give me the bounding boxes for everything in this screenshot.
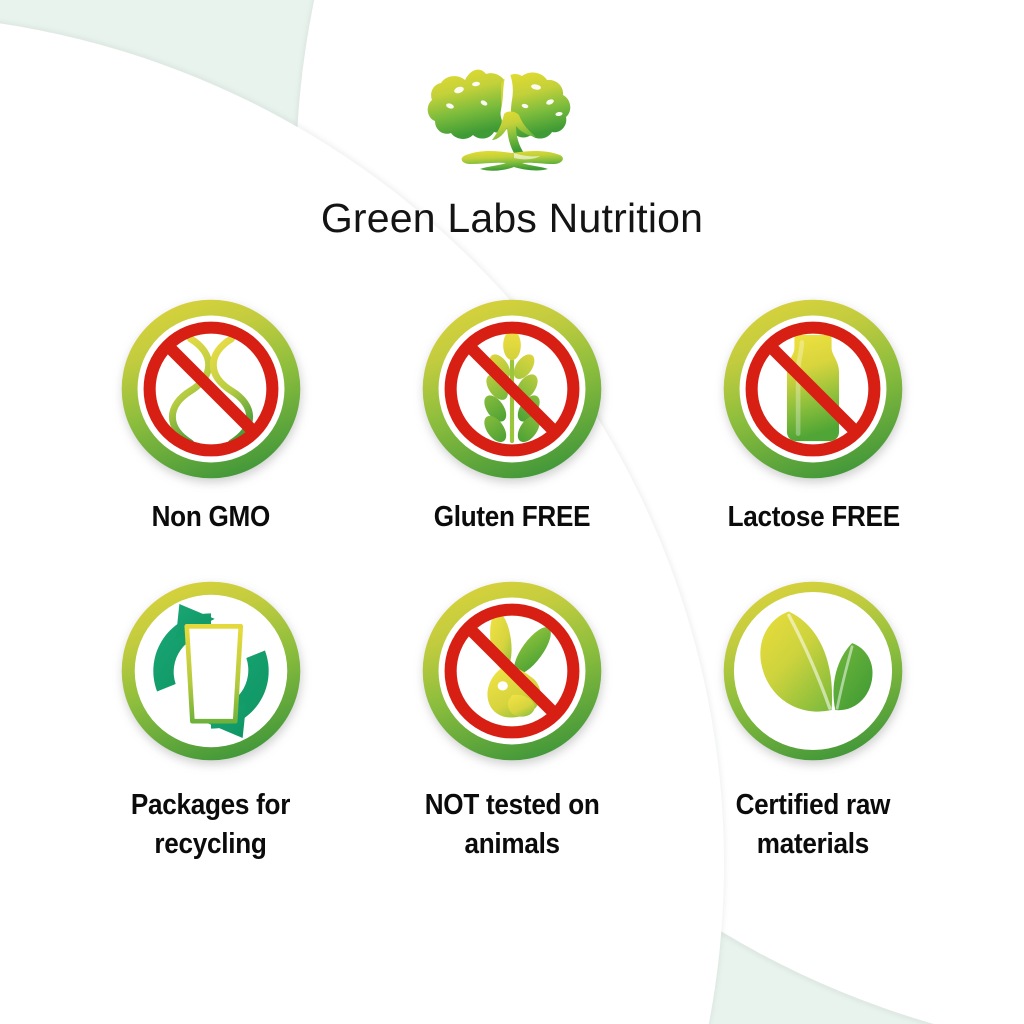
brand-header: Green Labs Nutrition (0, 54, 1024, 241)
badge-disc-gluten-free (419, 296, 605, 482)
dna-helix-icon (118, 296, 304, 482)
badge-disc-non-gmo (118, 296, 304, 482)
badge-grid: Non GMO (60, 296, 964, 863)
badge-label-certified-raw-materials: Certified raw materials (736, 786, 891, 863)
two-leaves-icon (720, 578, 906, 764)
recycle-arrows-icon (118, 578, 304, 764)
badge-item-not-tested-on-animals[interactable]: NOT tested on animals (361, 578, 662, 863)
badge-label-packages-for-recycling: Packages for recycling (131, 786, 290, 863)
tree-icon (426, 54, 598, 184)
badge-item-certified-raw-materials[interactable]: Certified raw materials (663, 578, 964, 863)
milk-bottle-icon (720, 296, 906, 482)
badge-disc-lactose-free (720, 296, 906, 482)
infographic-canvas: Green Labs Nutrition (0, 0, 1024, 1024)
badge-label-lactose-free: Lactose FREE (727, 498, 899, 536)
badge-label-not-tested-on-animals: NOT tested on animals (425, 786, 600, 863)
wheat-stalk-icon (419, 296, 605, 482)
badge-item-lactose-free[interactable]: Lactose FREE (663, 296, 964, 536)
rabbit-icon (419, 578, 605, 764)
badge-disc-certified-raw-materials (720, 578, 906, 764)
badge-disc-packages-for-recycling (118, 578, 304, 764)
badge-label-non-gmo: Non GMO (151, 498, 269, 536)
page-title: Green Labs Nutrition (0, 196, 1024, 241)
badge-item-gluten-free[interactable]: Gluten FREE (361, 296, 662, 536)
badge-disc-not-tested-on-animals (419, 578, 605, 764)
badge-item-non-gmo[interactable]: Non GMO (60, 296, 361, 536)
badge-item-packages-for-recycling[interactable]: Packages for recycling (60, 578, 361, 863)
badge-label-gluten-free: Gluten FREE (434, 498, 591, 536)
